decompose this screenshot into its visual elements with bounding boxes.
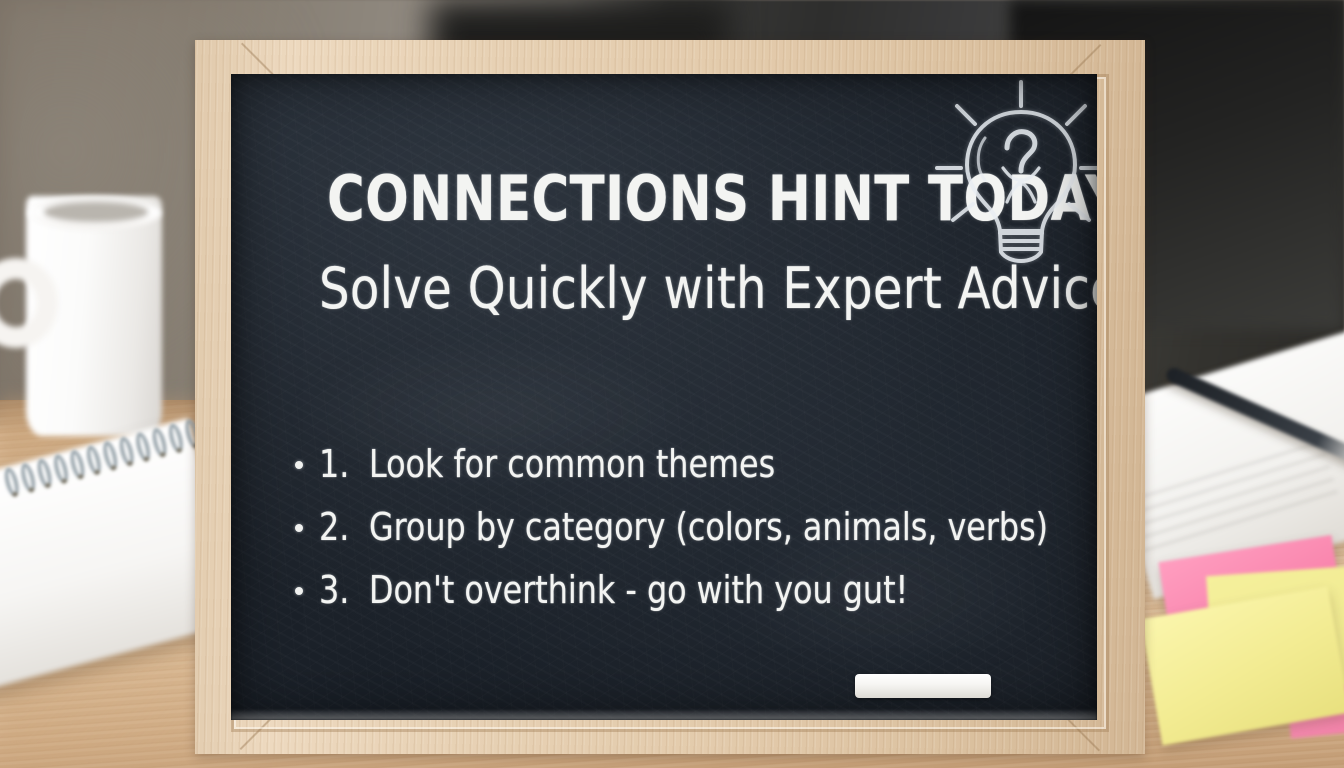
chalk-stick — [855, 674, 991, 698]
spiral-ring — [166, 422, 185, 454]
spiral-ring — [101, 440, 120, 472]
scene-root: CONNECTIONS HINT TODAY: Solve Quickly wi… — [0, 0, 1344, 768]
framed-chalkboard: CONNECTIONS HINT TODAY: Solve Quickly wi… — [189, 34, 1151, 762]
chalkboard-surface: CONNECTIONS HINT TODAY: Solve Quickly wi… — [231, 74, 1097, 720]
slate-vignette — [231, 74, 1097, 720]
spiral-ring — [18, 462, 37, 494]
spiral-ring — [133, 431, 152, 463]
spiral-ring — [68, 449, 87, 481]
spiral-ring — [117, 435, 136, 467]
mug-interior — [44, 202, 148, 222]
spiral-ring — [150, 427, 169, 459]
spiral-ring — [51, 453, 70, 485]
spiral-ring — [84, 444, 103, 476]
spiral-ring — [35, 457, 54, 489]
